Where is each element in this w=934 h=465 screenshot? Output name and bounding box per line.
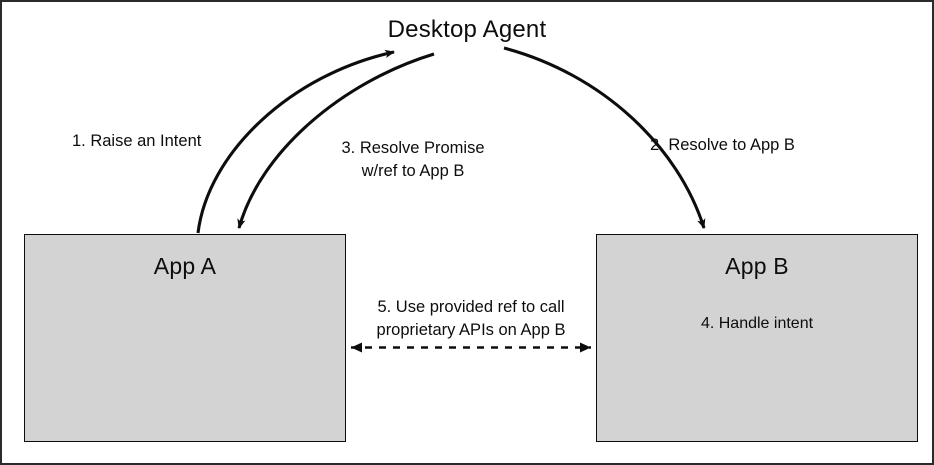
node-app-b: App B 4. Handle intent — [596, 234, 918, 442]
diagram-canvas: Desktop Agent 1. Raise an Intent 3. Reso… — [0, 0, 934, 465]
node-app-a-title: App A — [25, 253, 345, 280]
node-app-b-title: App B — [597, 253, 917, 280]
label-resolve-to-app-b: 2. Resolve to App B — [650, 134, 860, 157]
label-resolve-promise: 3. Resolve Promise w/ref to App B — [318, 137, 508, 183]
desktop-agent-title: Desktop Agent — [2, 16, 932, 44]
node-app-a: App A — [24, 234, 346, 442]
label-use-provided-ref: 5. Use provided ref to call proprietary … — [340, 296, 602, 342]
label-raise-an-intent: 1. Raise an Intent — [72, 130, 262, 153]
node-app-b-subtitle: 4. Handle intent — [597, 315, 917, 333]
